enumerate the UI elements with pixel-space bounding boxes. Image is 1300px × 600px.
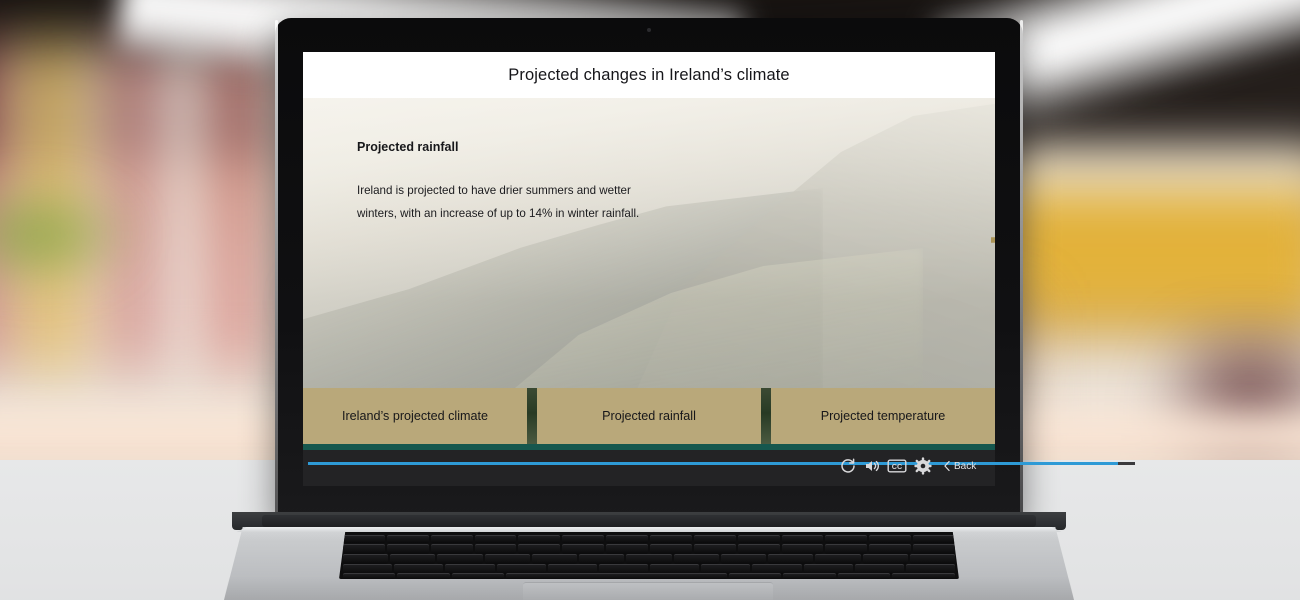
keyboard-key	[606, 544, 648, 554]
volume-icon[interactable]	[863, 457, 881, 475]
keyboard-row	[343, 544, 955, 554]
keyboard-key	[650, 544, 692, 554]
tab-divider	[527, 388, 537, 444]
rain-cloud-icon	[987, 320, 995, 388]
back-label: Back	[954, 461, 976, 472]
screen-content: Projected changes in Ireland’s climate P…	[303, 52, 995, 486]
svg-text:CC: CC	[892, 462, 902, 471]
keyboard-key	[390, 554, 435, 564]
hero-panel: Projected rainfall Ireland is projected …	[303, 98, 995, 388]
keyboard-key	[825, 544, 867, 554]
keyboard-key	[475, 535, 517, 543]
keyboard-key	[738, 544, 780, 554]
progress-fill	[308, 462, 1118, 465]
keyboard-key	[674, 554, 719, 564]
tab-divider	[761, 388, 771, 444]
tab-bar: Ireland’s projected climate Projected ra…	[303, 388, 995, 444]
chevron-left-icon	[943, 460, 951, 472]
keyboard-key	[869, 535, 911, 543]
keyboard-key	[579, 554, 624, 564]
player-control-bar: CC	[303, 450, 995, 486]
keyboard-key	[562, 544, 604, 554]
gear-icon[interactable]	[914, 457, 932, 475]
keyboard-key	[485, 554, 530, 564]
keyboard-key	[431, 544, 473, 554]
laptop-base-lip	[228, 527, 1070, 532]
cc-icon[interactable]: CC	[887, 457, 905, 475]
keyboard-key	[738, 535, 780, 543]
keyboard-key	[913, 544, 955, 554]
keyboard-key	[532, 554, 577, 564]
keyboard-key	[782, 544, 824, 554]
keyboard-key	[518, 544, 560, 554]
keyboard-key	[782, 535, 824, 543]
keyboard[interactable]	[339, 532, 959, 579]
keyboard-row	[343, 535, 955, 543]
keyboard-key	[815, 554, 860, 564]
keyboard-key	[475, 544, 517, 554]
lid-edge-highlight-left	[275, 20, 278, 520]
tab-irelands-projected-climate[interactable]: Ireland’s projected climate	[303, 388, 527, 444]
progress-track[interactable]	[308, 462, 1135, 465]
keyboard-row	[343, 554, 955, 564]
keyboard-key	[694, 535, 736, 543]
keyboard-key	[825, 535, 867, 543]
keyboard-key	[343, 535, 385, 543]
keyboard-key	[910, 554, 955, 564]
keyboard-key	[768, 554, 813, 564]
hero-heading: Projected rainfall	[357, 140, 657, 154]
back-button[interactable]: Back	[943, 457, 991, 475]
keyboard-key	[387, 544, 429, 554]
keyboard-key	[650, 535, 692, 543]
page-title: Projected changes in Ireland’s climate	[508, 66, 789, 85]
keyboard-key	[437, 554, 482, 564]
lid-edge-highlight-right	[1020, 20, 1023, 520]
keyboard-key	[606, 535, 648, 543]
base-shading	[224, 576, 1074, 600]
screenshot-stage: Projected changes in Ireland’s climate P…	[0, 0, 1300, 600]
laptop-mockup: Projected changes in Ireland’s climate P…	[0, 0, 1300, 600]
laptop-hinge-bar	[262, 515, 1036, 527]
replay-icon[interactable]	[839, 457, 857, 475]
keyboard-key	[387, 535, 429, 543]
sun-icon	[989, 194, 995, 286]
keyboard-key	[869, 544, 911, 554]
hero-text-block: Projected rainfall Ireland is projected …	[357, 140, 657, 225]
keyboard-key	[343, 544, 385, 554]
keyboard-key	[343, 554, 388, 564]
slide-title-bar: Projected changes in Ireland’s climate	[303, 52, 995, 98]
keyboard-key	[863, 554, 908, 564]
keyboard-key	[518, 535, 560, 543]
keyboard-key	[913, 535, 955, 543]
keyboard-key	[562, 535, 604, 543]
tab-projected-temperature[interactable]: Projected temperature	[771, 388, 995, 444]
keyboard-key	[721, 554, 766, 564]
webcam-dot	[647, 28, 651, 32]
keyboard-key	[431, 535, 473, 543]
hero-body-text: Ireland is projected to have drier summe…	[357, 180, 657, 225]
keyboard-key	[694, 544, 736, 554]
tab-projected-rainfall[interactable]: Projected rainfall	[537, 388, 761, 444]
keyboard-key	[626, 554, 671, 564]
